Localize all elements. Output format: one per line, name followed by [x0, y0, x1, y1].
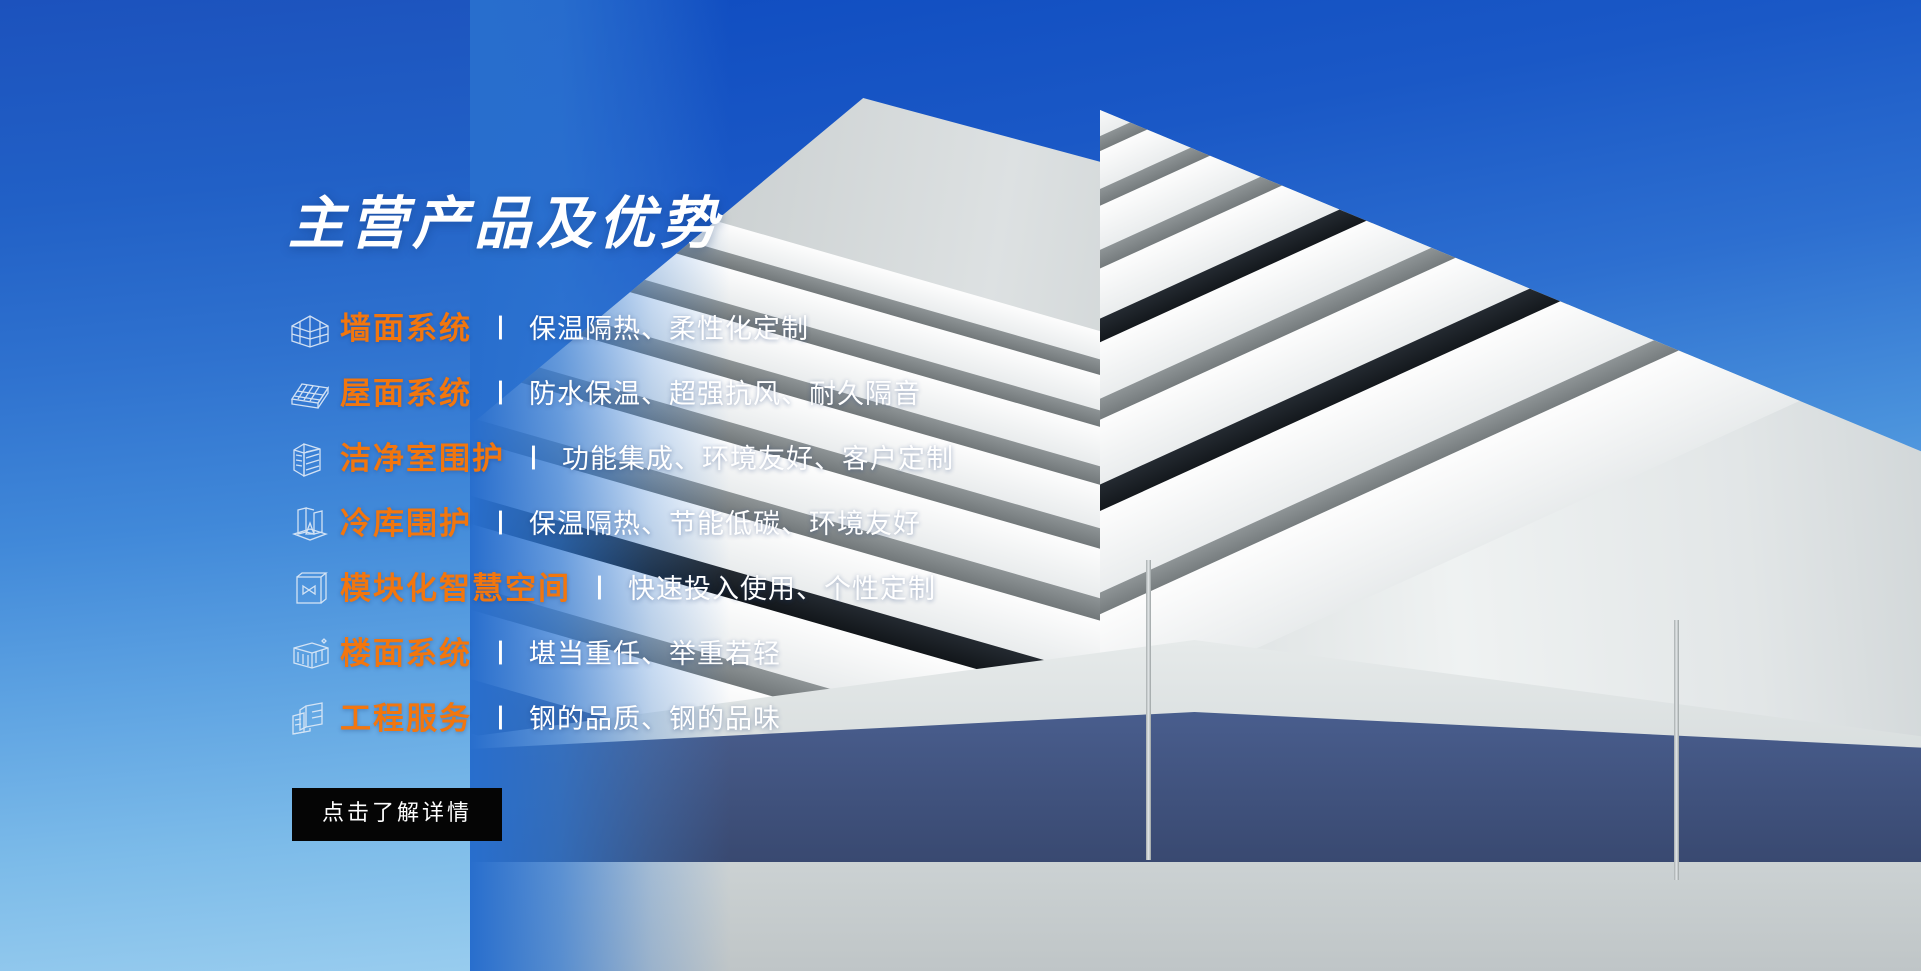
row-separator: 丨	[587, 577, 612, 602]
product-row[interactable]: 模块化智慧空间 丨 快速投入使用、个性定制	[288, 557, 1348, 622]
product-title: 模块化智慧空间	[340, 574, 571, 605]
product-desc: 钢的品质、钢的品味	[529, 706, 781, 733]
product-title: 屋面系统	[340, 379, 472, 410]
product-row[interactable]: 墙面系统 丨 保温隔热、柔性化定制	[288, 297, 1348, 362]
product-row[interactable]: 工程服务 丨 钢的品质、钢的品味	[288, 687, 1348, 752]
product-title: 墙面系统	[340, 314, 472, 345]
product-desc: 功能集成、环境友好、客户定制	[562, 446, 954, 473]
product-row[interactable]: 屋面系统 丨 防水保温、超强抗风、耐久隔音	[288, 362, 1348, 427]
row-separator: 丨	[488, 317, 513, 342]
product-title: 工程服务	[340, 704, 472, 735]
cold-storage-icon	[288, 505, 340, 545]
product-row[interactable]: 冷库围护 丨 保温隔热、节能低碳、环境友好	[288, 492, 1348, 557]
product-title: 洁净室围护	[340, 444, 505, 475]
cleanroom-building-icon	[288, 440, 340, 480]
product-desc: 防水保温、超强抗风、耐久隔音	[529, 381, 921, 408]
learn-more-button[interactable]: 点击了解详情	[292, 788, 502, 841]
row-separator: 丨	[488, 642, 513, 667]
product-list: 墙面系统 丨 保温隔热、柔性化定制 屋面系统 丨 防水保温、超强抗	[288, 297, 1348, 752]
downpipe	[1674, 620, 1679, 880]
engineering-service-icon	[288, 700, 340, 740]
banner-content: 主营产品及优势 墙面系统 丨 保温隔热、柔性化定制	[288, 196, 1348, 841]
product-advantage-banner: 主营产品及优势 墙面系统 丨 保温隔热、柔性化定制	[0, 0, 1921, 971]
product-desc: 保温隔热、节能低碳、环境友好	[529, 511, 921, 538]
product-desc: 快速投入使用、个性定制	[628, 576, 936, 603]
wall-panel-icon	[288, 310, 340, 350]
product-title: 冷库围护	[340, 509, 472, 540]
product-row[interactable]: 洁净室围护 丨 功能集成、环境友好、客户定制	[288, 427, 1348, 492]
roof-panel-icon	[288, 375, 340, 415]
page-title: 主营产品及优势	[288, 196, 1348, 253]
product-title: 楼面系统	[340, 639, 472, 670]
row-separator: 丨	[488, 512, 513, 537]
row-separator: 丨	[488, 382, 513, 407]
modular-cube-icon	[288, 570, 340, 610]
row-separator: 丨	[521, 447, 546, 472]
row-separator: 丨	[488, 707, 513, 732]
floor-deck-icon	[288, 635, 340, 675]
product-desc: 保温隔热、柔性化定制	[529, 316, 809, 343]
product-row[interactable]: 楼面系统 丨 堪当重任、举重若轻	[288, 622, 1348, 687]
product-desc: 堪当重任、举重若轻	[529, 641, 781, 668]
